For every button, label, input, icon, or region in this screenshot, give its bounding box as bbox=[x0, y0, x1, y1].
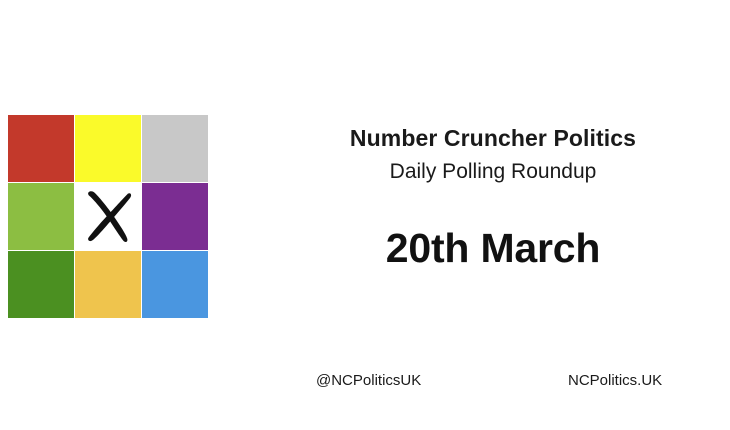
brand-title: Number Cruncher Politics bbox=[258, 124, 728, 153]
logo-tile-light-green bbox=[8, 183, 74, 250]
slide-date: 20th March bbox=[258, 225, 728, 272]
logo-tile-blue bbox=[142, 251, 208, 318]
title-slide: Number Cruncher Politics Daily Polling R… bbox=[0, 0, 730, 430]
title-text-block: Number Cruncher Politics Daily Polling R… bbox=[258, 124, 728, 272]
brand-subtitle: Daily Polling Roundup bbox=[258, 158, 728, 186]
logo-tile-yellow bbox=[75, 115, 141, 182]
logo-tile-dark-green bbox=[8, 251, 74, 318]
logo-tile-x-mark bbox=[75, 183, 141, 250]
logo-tile-grey bbox=[142, 115, 208, 182]
logo-tile-gold bbox=[75, 251, 141, 318]
number-cruncher-politics-logo bbox=[8, 115, 208, 318]
logo-tile-red bbox=[8, 115, 74, 182]
website-url: NCPolitics.UK bbox=[568, 372, 662, 389]
logo-tile-purple bbox=[142, 183, 208, 250]
ballot-x-icon bbox=[75, 183, 141, 250]
twitter-handle: @NCPoliticsUK bbox=[316, 372, 421, 389]
